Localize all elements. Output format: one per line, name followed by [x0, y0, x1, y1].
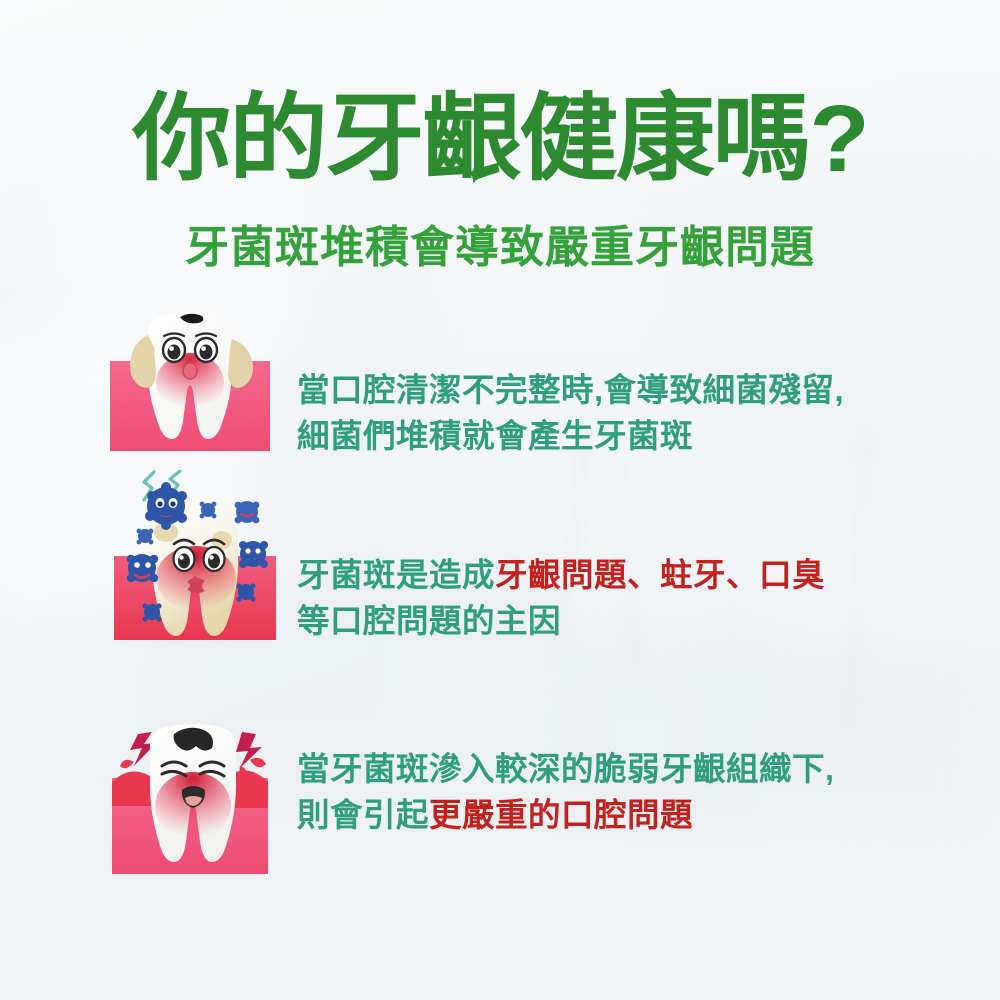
page-title: 你的牙齦健康嗎? [0, 92, 1000, 187]
paragraph-line: 則會引起更嚴重的口腔問題 [297, 792, 937, 838]
page-subtitle: 牙菌斑堆積會導致嚴重牙齦問題 [0, 224, 1000, 272]
section-paragraph: 當口腔清潔不完整時,會導致細菌殘留, 細菌們堆積就會產生牙菌斑 [297, 367, 937, 459]
paragraph-line: 細菌們堆積就會產生牙菌斑 [297, 413, 937, 459]
bacteria-germ [137, 529, 154, 545]
paragraph-line: 當牙菌斑滲入較深的脆弱牙齦組織下, [297, 746, 937, 792]
section-severe-problems: 當牙菌斑滲入較深的脆弱牙齦組織下, 則會引起更嚴重的口腔問題 [0, 710, 1000, 875]
text-segment: 等口腔問題的主因 [297, 603, 561, 639]
bacteria-germ [127, 554, 158, 582]
highlight-segment: 更嚴重的口腔問題 [429, 797, 693, 833]
text-segment: 細菌們堆積就會產生牙菌斑 [297, 418, 693, 454]
bacteria-germ [142, 603, 161, 621]
section-plaque-forms: 當口腔清潔不完整時,會導致細菌殘留, 細菌們堆積就會產生牙菌斑 [0, 305, 1000, 455]
tooth-with-bacteria-icon [104, 470, 286, 647]
bacteria-germ [239, 541, 268, 568]
paragraph-line: 等口腔問題的主因 [297, 598, 937, 644]
bacteria-germ [236, 583, 255, 601]
tooth-with-pain-icon [100, 710, 286, 883]
text-segment: 則會引起 [297, 797, 429, 833]
bacteria-germ [200, 502, 217, 519]
tooth-with-plaque-icon [104, 305, 276, 458]
paragraph-line: 牙菌斑是造成牙齦問題、蛀牙、口臭 [297, 552, 937, 598]
highlight-segment: 牙齦問題、蛀牙、口臭 [495, 557, 825, 593]
section-plaque-causes: 牙菌斑是造成牙齦問題、蛀牙、口臭 等口腔問題的主因 [0, 470, 1000, 645]
text-segment: 牙菌斑是造成 [297, 557, 495, 593]
text-segment: 當口腔清潔不完整時,會導致細菌殘留, [297, 372, 844, 408]
text-segment: 當牙菌斑滲入較深的脆弱牙齦組織下, [297, 751, 835, 787]
section-paragraph: 牙菌斑是造成牙齦問題、蛀牙、口臭 等口腔問題的主因 [297, 552, 937, 644]
paragraph-line: 當口腔清潔不完整時,會導致細菌殘留, [297, 367, 937, 413]
bacteria-germ [235, 501, 260, 523]
section-paragraph: 當牙菌斑滲入較深的脆弱牙齦組織下, 則會引起更嚴重的口腔問題 [297, 746, 937, 838]
